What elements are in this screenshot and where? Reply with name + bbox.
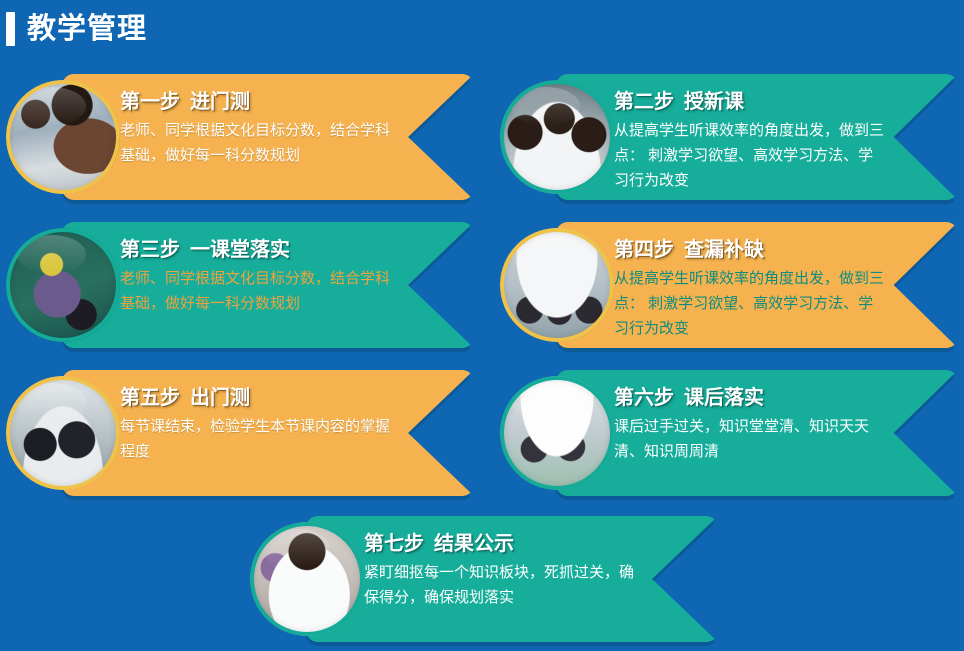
step-card-4[interactable]: 第四步查漏补缺 从提高学生听课效率的角度出发，做到三点： 刺激学习欲望、高效学习… bbox=[556, 222, 958, 348]
card-title: 第六步课后落实 bbox=[614, 384, 888, 412]
step-card-3[interactable]: 第三步一课堂落实 老师、同学根据文化目标分数，结合学科基础，做好每一科分数规划 bbox=[62, 222, 474, 348]
photo-image bbox=[6, 228, 120, 342]
step-card-6[interactable]: 第六步课后落实 课后过手过关，知识堂堂清、知识天天清、知识周周清 bbox=[556, 370, 958, 496]
step-name: 进门测 bbox=[190, 91, 250, 113]
step-number: 第三步 bbox=[120, 239, 180, 261]
step-name: 课后落实 bbox=[684, 387, 764, 409]
card-text: 第四步查漏补缺 从提高学生听课效率的角度出发，做到三点： 刺激学习欲望、高效学习… bbox=[614, 236, 888, 341]
card-body: 从提高学生听课效率的角度出发，做到三点： 刺激学习欲望、高效学习方法、学习行为改… bbox=[614, 266, 888, 341]
card-body: 从提高学生听课效率的角度出发，做到三点： 刺激学习欲望、高效学习方法、学习行为改… bbox=[614, 118, 888, 193]
card-text: 第一步进门测 老师、同学根据文化目标分数，结合学科基础，做好每一科分数规划 bbox=[120, 88, 404, 168]
step-card-5[interactable]: 第五步出门测 每节课结束，检验学生本节课内容的掌握程度 bbox=[62, 370, 474, 496]
card-text: 第二步授新课 从提高学生听课效率的角度出发，做到三点： 刺激学习欲望、高效学习方… bbox=[614, 88, 888, 193]
step-photo-1 bbox=[6, 80, 120, 194]
photo-image bbox=[500, 376, 614, 490]
card-body: 紧盯细抠每一个知识板块，死抓过关，确保得分，确保规划落实 bbox=[364, 560, 648, 610]
step-name: 出门测 bbox=[190, 387, 250, 409]
step-number: 第一步 bbox=[120, 91, 180, 113]
card-title: 第二步授新课 bbox=[614, 88, 888, 116]
page-title: 教学管理 bbox=[27, 15, 147, 44]
photo-image bbox=[250, 522, 364, 636]
step-name: 查漏补缺 bbox=[684, 239, 764, 261]
step-name: 结果公示 bbox=[434, 533, 514, 555]
step-card-7[interactable]: 第七步结果公示 紧盯细抠每一个知识板块，死抓过关，确保得分，确保规划落实 bbox=[306, 516, 718, 642]
infographic-root: 教学管理 第一步进门测 老师、同学根据文化目标分数，结合学科基础，做好每一科分数… bbox=[0, 0, 964, 651]
title-accent-bar bbox=[6, 12, 15, 46]
card-text: 第六步课后落实 课后过手过关，知识堂堂清、知识天天清、知识周周清 bbox=[614, 384, 888, 464]
card-body: 课后过手过关，知识堂堂清、知识天天清、知识周周清 bbox=[614, 414, 888, 464]
step-name: 一课堂落实 bbox=[190, 239, 290, 261]
photo-image bbox=[500, 228, 614, 342]
step-number: 第六步 bbox=[614, 387, 674, 409]
step-number: 第五步 bbox=[120, 387, 180, 409]
step-card-1[interactable]: 第一步进门测 老师、同学根据文化目标分数，结合学科基础，做好每一科分数规划 bbox=[62, 74, 474, 200]
card-title: 第三步一课堂落实 bbox=[120, 236, 404, 264]
step-card-2[interactable]: 第二步授新课 从提高学生听课效率的角度出发，做到三点： 刺激学习欲望、高效学习方… bbox=[556, 74, 958, 200]
card-title: 第四步查漏补缺 bbox=[614, 236, 888, 264]
step-photo-3 bbox=[6, 228, 120, 342]
page-header: 教学管理 bbox=[0, 0, 964, 58]
photo-image bbox=[6, 80, 120, 194]
photo-image bbox=[6, 376, 120, 490]
card-body: 老师、同学根据文化目标分数，结合学科基础，做好每一科分数规划 bbox=[120, 118, 404, 168]
card-title: 第七步结果公示 bbox=[364, 530, 648, 558]
card-title: 第五步出门测 bbox=[120, 384, 404, 412]
card-body: 老师、同学根据文化目标分数，结合学科基础，做好每一科分数规划 bbox=[120, 266, 404, 316]
step-photo-6 bbox=[500, 376, 614, 490]
step-number: 第二步 bbox=[614, 91, 674, 113]
card-title: 第一步进门测 bbox=[120, 88, 404, 116]
card-body: 每节课结束，检验学生本节课内容的掌握程度 bbox=[120, 414, 404, 464]
card-text: 第五步出门测 每节课结束，检验学生本节课内容的掌握程度 bbox=[120, 384, 404, 464]
step-photo-7 bbox=[250, 522, 364, 636]
card-text: 第七步结果公示 紧盯细抠每一个知识板块，死抓过关，确保得分，确保规划落实 bbox=[364, 530, 648, 610]
step-photo-5 bbox=[6, 376, 120, 490]
photo-image bbox=[500, 80, 614, 194]
step-photo-4 bbox=[500, 228, 614, 342]
card-text: 第三步一课堂落实 老师、同学根据文化目标分数，结合学科基础，做好每一科分数规划 bbox=[120, 236, 404, 316]
step-photo-2 bbox=[500, 80, 614, 194]
step-number: 第四步 bbox=[614, 239, 674, 261]
step-name: 授新课 bbox=[684, 91, 744, 113]
step-number: 第七步 bbox=[364, 533, 424, 555]
